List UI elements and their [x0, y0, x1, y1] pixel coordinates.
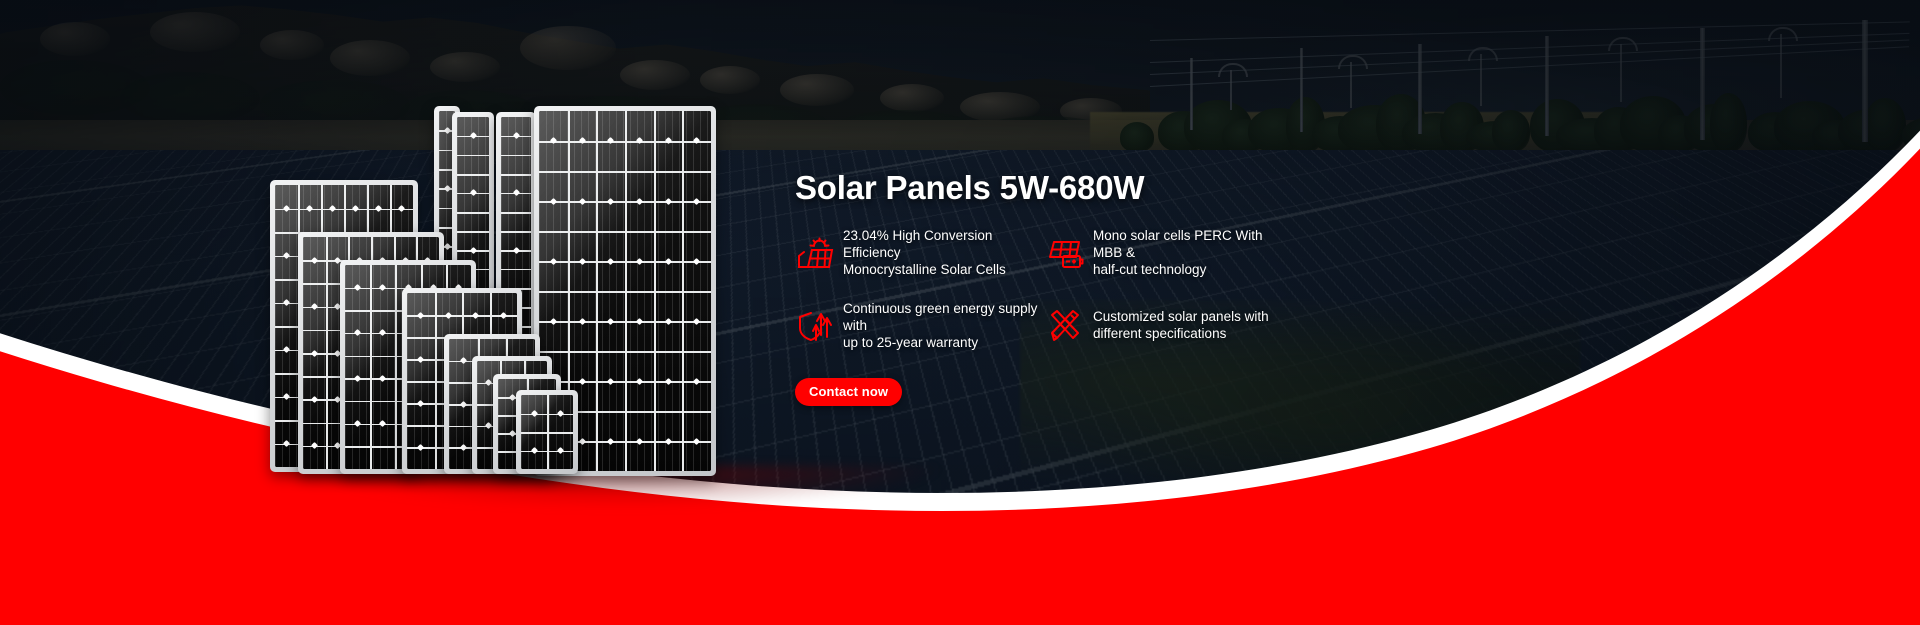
solar-panel-sun-icon: [795, 236, 835, 272]
pencil-ruler-icon: [1045, 308, 1085, 344]
solar-panel-battery-icon: [1045, 236, 1085, 272]
shield-arrows-icon: [795, 308, 835, 344]
solar-panel-promo-banner: Solar Panels 5W-680W: [0, 0, 1920, 625]
feature-text: 23.04% High Conversion Efficiency Monocr…: [843, 228, 1045, 279]
feature-row-2: Continuous green energy supply with up t…: [795, 301, 1495, 352]
feature-list: 23.04% High Conversion Efficiency Monocr…: [795, 228, 1495, 351]
feature-row-1: 23.04% High Conversion Efficiency Monocr…: [795, 228, 1495, 279]
feature-line-2: half-cut technology: [1093, 262, 1206, 277]
banner-content: Solar Panels 5W-680W: [795, 170, 1495, 406]
product-solar-panel: [516, 390, 578, 474]
feature-text: Mono solar cells PERC With MBB & half-cu…: [1093, 228, 1295, 279]
feature-line-2: Monocrystalline Solar Cells: [843, 262, 1006, 277]
feature-item-customization: Customized solar panels with different s…: [1045, 301, 1295, 352]
contact-now-button[interactable]: Contact now: [795, 378, 902, 406]
feature-item-perc-mbb: Mono solar cells PERC With MBB & half-cu…: [1045, 228, 1295, 279]
feature-line-2: up to 25-year warranty: [843, 335, 978, 350]
feature-text: Continuous green energy supply with up t…: [843, 301, 1045, 352]
feature-item-warranty: Continuous green energy supply with up t…: [795, 301, 1045, 352]
feature-line-1: Continuous green energy supply with: [843, 301, 1037, 333]
feature-line-1: Mono solar cells PERC With MBB &: [1093, 228, 1263, 260]
feature-line-2: different specifications: [1093, 326, 1226, 341]
feature-text: Customized solar panels with different s…: [1093, 309, 1269, 343]
feature-line-1: 23.04% High Conversion Efficiency: [843, 228, 992, 260]
feature-item-efficiency: 23.04% High Conversion Efficiency Monocr…: [795, 228, 1045, 279]
feature-line-1: Customized solar panels with: [1093, 309, 1269, 324]
page-title: Solar Panels 5W-680W: [795, 170, 1495, 206]
